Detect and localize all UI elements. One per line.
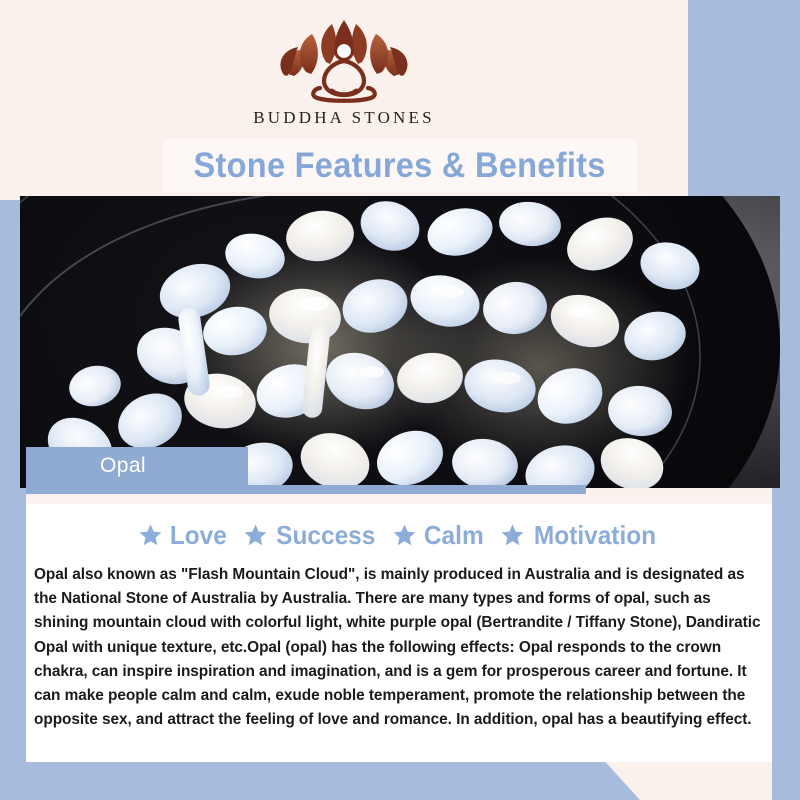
stone-name-bar: Opal — [48, 447, 248, 485]
benefit-item-love: Love — [138, 520, 229, 551]
benefit-item-success: Success — [243, 520, 379, 551]
frame-accent-bottom — [0, 756, 640, 800]
benefit-item-motivation: Motivation — [500, 520, 660, 551]
card-top-strip — [26, 494, 772, 504]
benefit-item-calm: Calm — [392, 520, 486, 551]
infographic-page: BUDDHA STONES Stone Features & Benefits — [0, 0, 800, 800]
star-icon — [138, 523, 163, 547]
stone-name-bar-left-cap — [26, 447, 50, 485]
frame-accent-top-right — [688, 0, 800, 200]
benefits-row: Love Success Calm Motivation — [26, 516, 772, 554]
stone-description: Opal also known as "Flash Mountain Cloud… — [34, 563, 769, 732]
benefit-label: Motivation — [534, 520, 656, 551]
benefit-label: Calm — [424, 520, 484, 551]
page-title-band: Stone Features & Benefits — [163, 139, 637, 192]
stone-name-bar-underline — [26, 485, 586, 494]
page-title: Stone Features & Benefits — [194, 146, 606, 186]
hero-photo — [20, 196, 780, 488]
benefit-label: Success — [276, 520, 375, 551]
lotus-meditation-icon — [254, 18, 434, 104]
brand-logo: BUDDHA STONES — [0, 18, 688, 128]
benefit-label: Love — [170, 520, 227, 551]
star-icon — [500, 523, 525, 547]
stone-name: Opal — [100, 454, 146, 478]
header: BUDDHA STONES Stone Features & Benefits — [0, 0, 688, 196]
opal-stones-illustration — [20, 196, 780, 488]
star-icon — [243, 523, 268, 547]
star-icon — [392, 523, 417, 547]
brand-name: BUDDHA STONES — [253, 108, 435, 128]
